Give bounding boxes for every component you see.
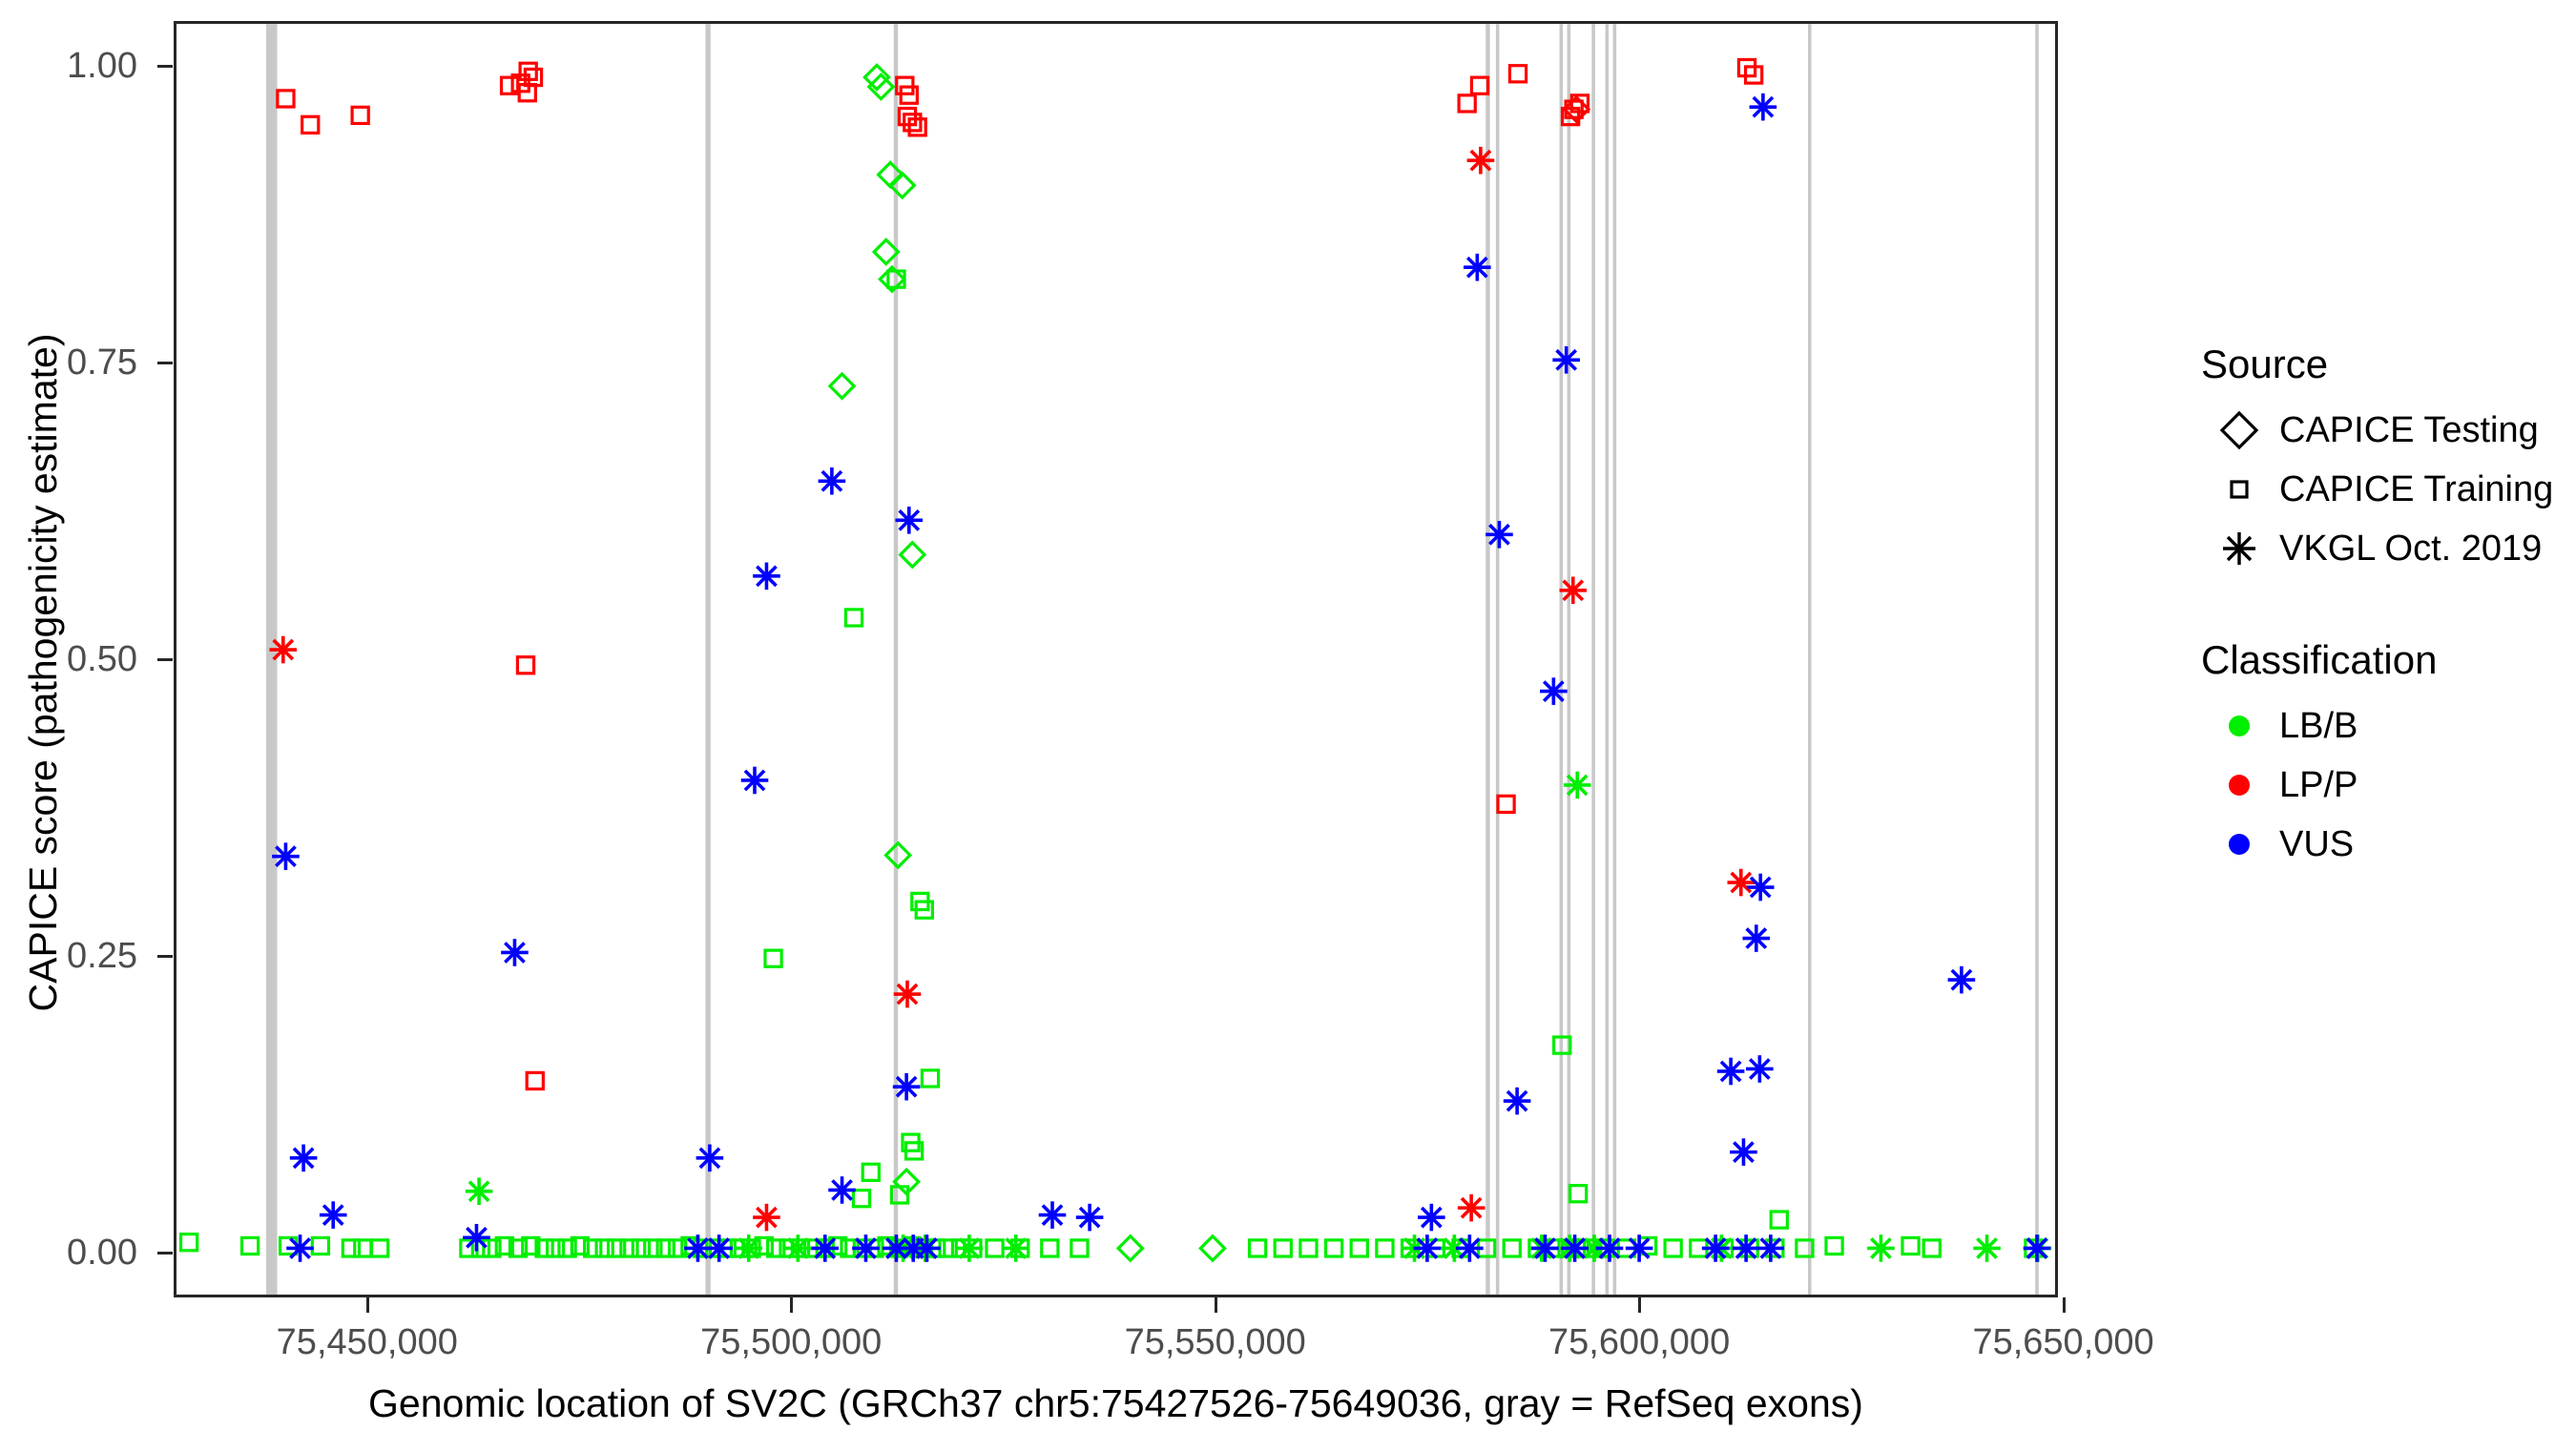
data-point	[1458, 1194, 1485, 1222]
data-point	[1042, 1240, 1058, 1256]
data-point	[1459, 95, 1475, 112]
x-axis-title: Genomic location of SV2C (GRCh37 chr5:75…	[174, 1381, 2058, 1426]
exon-band	[1560, 24, 1564, 1295]
data-point	[784, 1234, 812, 1262]
data-point	[1559, 576, 1587, 604]
data-point	[895, 507, 923, 534]
data-point	[1973, 1234, 2001, 1262]
exon-band	[1496, 24, 1500, 1295]
data-point	[741, 767, 769, 795]
data-point	[278, 91, 294, 107]
legend-item-capice-testing[interactable]: CAPICE Testing	[2199, 401, 2562, 460]
x-tick-mark	[366, 1297, 369, 1313]
data-point	[1076, 1204, 1104, 1232]
data-point	[1485, 521, 1513, 549]
scatter-series	[830, 65, 1225, 1260]
data-point	[1561, 1234, 1589, 1262]
y-tick-mark	[157, 1252, 173, 1255]
legend-title-classification: Classification	[2201, 637, 2562, 683]
y-tick-label: 1.00	[0, 48, 137, 84]
x-tick-label: 75,550,000	[1072, 1324, 1359, 1360]
data-point	[1902, 1237, 1919, 1254]
data-point	[1467, 147, 1495, 175]
circle-icon-lpp	[2199, 756, 2279, 815]
data-point	[899, 109, 915, 125]
data-point	[372, 1240, 388, 1256]
data-point	[904, 114, 921, 131]
data-point	[517, 657, 533, 674]
data-point	[290, 1145, 318, 1172]
data-point	[272, 842, 300, 870]
chart-canvas: CAPICE score (pathogenicity estimate) 0.…	[0, 0, 2576, 1431]
data-point	[1757, 1234, 1785, 1262]
data-point	[696, 1145, 724, 1172]
circle-icon-lbb	[2199, 696, 2279, 756]
data-point	[765, 950, 781, 966]
data-point	[242, 1237, 259, 1254]
data-point	[1570, 1186, 1587, 1202]
data-point	[1730, 1138, 1757, 1166]
data-point	[1464, 254, 1491, 281]
legend-label-capice-testing: CAPICE Testing	[2279, 410, 2539, 451]
data-point	[1948, 966, 1976, 994]
data-point	[269, 636, 297, 664]
exon-band	[1613, 24, 1617, 1295]
exon-band	[705, 24, 710, 1295]
exon-band	[2035, 24, 2039, 1295]
scatter-series	[272, 93, 2050, 1262]
data-point	[753, 563, 780, 591]
legend-item-lpp[interactable]: LP/P	[2199, 756, 2562, 815]
data-point	[1326, 1240, 1342, 1256]
circle-icon-vus	[2199, 815, 2279, 874]
data-point	[1250, 1240, 1266, 1256]
data-point	[1418, 1204, 1445, 1232]
data-point	[735, 1234, 762, 1262]
data-point	[1750, 93, 1777, 121]
data-point	[1702, 1234, 1730, 1262]
exon-band	[1485, 24, 1489, 1295]
data-point	[1742, 924, 1770, 952]
exon-band	[1591, 24, 1595, 1295]
legend-item-lbb[interactable]: LB/B	[2199, 696, 2562, 756]
x-tick-label: 75,600,000	[1496, 1324, 1782, 1360]
data-point	[922, 1070, 938, 1087]
data-point	[1540, 677, 1568, 705]
x-tick-label: 75,500,000	[648, 1324, 934, 1360]
data-point	[1300, 1240, 1317, 1256]
data-point	[1923, 1240, 1940, 1256]
exon-band	[1606, 24, 1610, 1295]
y-tick-mark	[157, 955, 173, 958]
data-point	[1564, 772, 1591, 799]
exon-band	[1568, 24, 1571, 1295]
data-point	[596, 1240, 613, 1256]
scatter-series	[278, 59, 1762, 1089]
y-tick-label: 0.50	[0, 641, 137, 677]
data-point	[893, 1073, 921, 1101]
y-tick-mark	[157, 65, 173, 68]
x-tick-mark	[790, 1297, 793, 1313]
data-point	[1275, 1240, 1291, 1256]
data-point	[1456, 1234, 1484, 1262]
data-point	[753, 1204, 780, 1232]
data-point	[633, 1240, 649, 1256]
x-tick-mark	[1215, 1297, 1217, 1313]
asterisk-icon	[2199, 519, 2279, 578]
x-tick-mark	[2063, 1297, 2066, 1313]
data-point	[2024, 1234, 2051, 1262]
exon-band	[894, 24, 898, 1295]
y-tick-label: 0.00	[0, 1234, 137, 1271]
data-point	[862, 1164, 879, 1180]
legend-title-source: Source	[2201, 342, 2562, 387]
data-point	[548, 1240, 564, 1256]
scatter-series	[466, 772, 2051, 1262]
data-point	[1727, 869, 1755, 897]
data-point	[501, 939, 529, 966]
data-point	[1200, 1236, 1224, 1260]
data-point	[913, 1234, 941, 1262]
data-point	[1351, 1240, 1367, 1256]
x-tick-label: 75,450,000	[224, 1324, 510, 1360]
data-point	[355, 1240, 371, 1256]
data-point	[811, 1234, 839, 1262]
data-point	[1665, 1240, 1681, 1256]
y-tick-label: 0.25	[0, 938, 137, 974]
y-tick-mark	[157, 658, 173, 661]
data-point	[1071, 1240, 1088, 1256]
data-point	[956, 1234, 984, 1262]
data-point	[466, 1177, 493, 1205]
data-point	[1118, 1236, 1142, 1260]
data-point	[1414, 1234, 1442, 1262]
diamond-icon	[2199, 401, 2279, 460]
data-point	[181, 1234, 197, 1251]
legend-group-classification: Classification LB/B LP/P	[2199, 637, 2562, 874]
data-point	[1471, 77, 1487, 93]
data-point	[1377, 1240, 1393, 1256]
data-point	[819, 467, 846, 495]
legend-label-lpp: LP/P	[2279, 765, 2358, 806]
legend-group-source: Source CAPICE Testing CAPICE Training	[2199, 342, 2562, 578]
legend-item-capice-training[interactable]: CAPICE Training	[2199, 460, 2562, 519]
scatter-series	[269, 147, 1755, 1232]
data-point	[1717, 1058, 1745, 1086]
data-point	[845, 610, 862, 626]
data-point	[1747, 874, 1775, 902]
data-point	[830, 374, 854, 398]
data-point	[894, 981, 922, 1008]
data-point	[1504, 1240, 1520, 1256]
data-point	[1867, 1234, 1895, 1262]
legend-label-capice-training: CAPICE Training	[2279, 469, 2553, 510]
data-point	[852, 1234, 880, 1262]
y-tick-label: 0.75	[0, 344, 137, 381]
data-point	[853, 1191, 869, 1207]
data-point	[705, 1234, 733, 1262]
plot-panel	[174, 21, 2058, 1297]
data-point	[286, 1234, 314, 1262]
data-point	[302, 116, 319, 133]
data-point	[352, 107, 368, 123]
legend-label-vus: VUS	[2279, 824, 2354, 865]
data-point	[1596, 1234, 1624, 1262]
x-tick-label: 75,650,000	[1921, 1324, 2207, 1360]
legend: Source CAPICE Testing CAPICE Training	[2199, 342, 2562, 933]
data-point	[1733, 1234, 1760, 1262]
data-point	[343, 1240, 359, 1256]
data-point	[1509, 66, 1526, 82]
square-icon	[2199, 460, 2279, 519]
legend-label-lbb: LB/B	[2279, 706, 2358, 747]
exon-band	[1808, 24, 1812, 1295]
data-point	[461, 1240, 477, 1256]
data-point	[1498, 796, 1514, 812]
data-point	[828, 1176, 856, 1204]
data-point	[1504, 1088, 1531, 1115]
y-tick-mark	[157, 362, 173, 364]
data-point	[1746, 1055, 1774, 1083]
scatter-series	[181, 271, 2043, 1256]
data-point	[909, 119, 925, 135]
data-point	[1039, 1201, 1067, 1229]
legend-item-vus[interactable]: VUS	[2199, 815, 2562, 874]
data-point	[463, 1224, 490, 1252]
legend-item-vkgl[interactable]: VKGL Oct. 2019	[2199, 519, 2562, 578]
data-point	[1531, 1234, 1559, 1262]
data-point	[1002, 1234, 1029, 1262]
data-point	[1826, 1237, 1842, 1254]
data-point	[312, 1237, 328, 1254]
data-point	[1771, 1212, 1787, 1228]
scatter-plot-svg	[177, 24, 2055, 1295]
data-point	[987, 1240, 1003, 1256]
legend-label-vkgl: VKGL Oct. 2019	[2279, 529, 2542, 570]
data-point	[1552, 346, 1580, 374]
data-point	[320, 1201, 347, 1229]
data-point	[901, 543, 924, 567]
x-tick-mark	[1638, 1297, 1641, 1313]
data-point	[527, 1072, 543, 1089]
data-point	[1626, 1234, 1653, 1262]
